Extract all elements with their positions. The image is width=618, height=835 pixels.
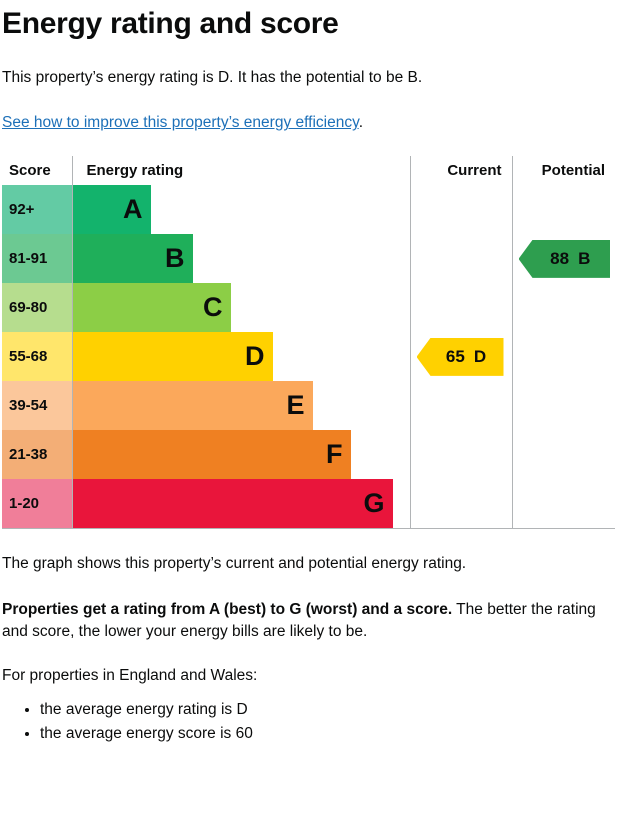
average-list-item: the average energy score is 60	[40, 722, 618, 745]
chart-row-f: 21-38F	[2, 430, 615, 479]
current-cell-d: 65D	[410, 332, 512, 381]
current-cell-g	[410, 479, 512, 529]
potential-cell-g	[512, 479, 615, 529]
rating-explainer: Properties get a rating from A (best) to…	[2, 599, 618, 642]
potential-cell-c	[512, 283, 615, 332]
chart-header-row: Score Energy rating Current Potential	[2, 156, 615, 185]
potential-cell-d	[512, 332, 615, 381]
average-list-item: the average energy rating is D	[40, 698, 618, 721]
intro-text: This property’s energy rating is D. It h…	[2, 68, 618, 89]
col-header-potential: Potential	[512, 156, 615, 185]
page-title: Energy rating and score	[2, 8, 618, 40]
current-cell-e	[410, 381, 512, 430]
current-rating-marker: 65D	[417, 338, 504, 376]
current-cell-f	[410, 430, 512, 479]
score-range-e: 39-54	[2, 381, 72, 430]
current-cell-c	[410, 283, 512, 332]
band-bar-b: B	[73, 234, 193, 283]
score-range-d: 55-68	[2, 332, 72, 381]
region-intro: For properties in England and Wales:	[2, 665, 618, 687]
rating-bar-cell-c: C	[72, 283, 410, 332]
chart-row-b: 81-91B88B	[2, 234, 615, 283]
potential-rating-marker: 88B	[519, 240, 611, 278]
chart-row-d: 55-68D65D	[2, 332, 615, 381]
chart-row-a: 92+A	[2, 185, 615, 234]
band-bar-c: C	[73, 283, 231, 332]
energy-rating-chart: Score Energy rating Current Potential 92…	[2, 156, 615, 529]
band-bar-f: F	[73, 430, 351, 479]
epc-energy-rating-page: Energy rating and score This property’s …	[0, 8, 618, 745]
rating-bar-cell-d: D	[72, 332, 410, 381]
rating-bar-cell-a: A	[72, 185, 410, 234]
current-cell-b	[410, 234, 512, 283]
col-header-rating: Energy rating	[72, 156, 410, 185]
potential-cell-b: 88B	[512, 234, 615, 283]
score-range-a: 92+	[2, 185, 72, 234]
rating-bar-cell-e: E	[72, 381, 410, 430]
potential-score-value: 88	[550, 249, 569, 269]
band-bar-d: D	[73, 332, 273, 381]
improve-link-row: See how to improve this property’s energ…	[2, 114, 618, 132]
score-range-b: 81-91	[2, 234, 72, 283]
chart-row-e: 39-54E	[2, 381, 615, 430]
score-range-f: 21-38	[2, 430, 72, 479]
potential-band-letter: B	[578, 249, 590, 269]
band-bar-a: A	[73, 185, 151, 234]
chart-body: 92+A81-91B88B69-80C55-68D65D39-54E21-38F…	[2, 185, 615, 529]
band-bar-g: G	[73, 479, 393, 528]
current-band-letter: D	[474, 347, 486, 367]
rating-bar-cell-b: B	[72, 234, 410, 283]
rating-bar-cell-g: G	[72, 479, 410, 529]
rating-explainer-bold: Properties get a rating from A (best) to…	[2, 601, 452, 618]
chart-row-c: 69-80C	[2, 283, 615, 332]
potential-cell-a	[512, 185, 615, 234]
average-list: the average energy rating is Dthe averag…	[2, 698, 618, 745]
graph-caption: The graph shows this property’s current …	[2, 554, 618, 575]
link-trailing-period: .	[359, 114, 363, 131]
col-header-current: Current	[410, 156, 512, 185]
potential-cell-f	[512, 430, 615, 479]
chart-row-g: 1-20G	[2, 479, 615, 529]
col-header-score: Score	[2, 156, 72, 185]
improve-efficiency-link[interactable]: See how to improve this property’s energ…	[2, 114, 359, 131]
current-score-value: 65	[446, 347, 465, 367]
score-range-c: 69-80	[2, 283, 72, 332]
current-cell-a	[410, 185, 512, 234]
score-range-g: 1-20	[2, 479, 72, 529]
band-bar-e: E	[73, 381, 313, 430]
potential-cell-e	[512, 381, 615, 430]
rating-bar-cell-f: F	[72, 430, 410, 479]
